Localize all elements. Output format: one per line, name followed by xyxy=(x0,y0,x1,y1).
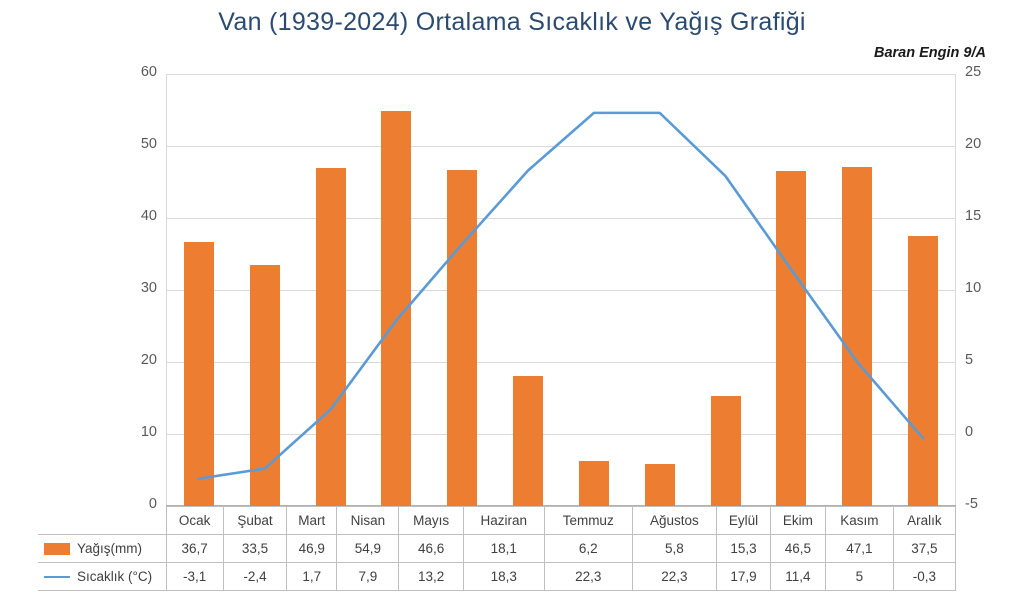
legend-label-yagis: Yağış(mm) xyxy=(77,541,142,556)
right-axis-tick-label: 10 xyxy=(965,280,981,296)
line-legend-swatch-icon xyxy=(44,571,70,583)
table-cell-yagis: 5,8 xyxy=(632,535,716,563)
table-header-cell: Şubat xyxy=(223,507,286,535)
legend-spacer xyxy=(38,507,166,535)
table-cell-yagis: 37,5 xyxy=(893,535,955,563)
table-header-cell: Mart xyxy=(287,507,337,535)
line-series xyxy=(166,74,956,506)
right-axis-tick-label: 15 xyxy=(965,208,981,224)
table-cell-yagis: 46,5 xyxy=(770,535,825,563)
table-header-cell: Haziran xyxy=(463,507,544,535)
table-cell-sicaklik: 5 xyxy=(825,563,893,591)
table-header-cell: Aralık xyxy=(893,507,955,535)
table-cell-sicaklik: 22,3 xyxy=(632,563,716,591)
table-cell-yagis: 46,9 xyxy=(287,535,337,563)
table-cell-yagis: 15,3 xyxy=(717,535,771,563)
table-cell-yagis: 54,9 xyxy=(337,535,399,563)
table-row-yagis: Yağış(mm) 36,733,546,954,946,618,16,25,8… xyxy=(38,535,956,563)
right-axis-tick-label: 5 xyxy=(965,352,973,368)
table-cell-sicaklik: 17,9 xyxy=(717,563,771,591)
legend-label-sicaklik: Sıcaklık (°C) xyxy=(77,569,152,584)
left-axis-tick-label: 10 xyxy=(141,424,157,440)
table-cell-yagis: 47,1 xyxy=(825,535,893,563)
author-annotation: Baran Engin 9/A xyxy=(874,45,986,61)
table-cell-sicaklik: -0,3 xyxy=(893,563,955,591)
table-header-cell: Ekim xyxy=(770,507,825,535)
table-header-cell: Ocak xyxy=(166,507,223,535)
left-axis-tick-label: 20 xyxy=(141,352,157,368)
table-row-categories: OcakŞubatMartNisanMayısHaziranTemmuzAğus… xyxy=(38,507,956,535)
table-cell-sicaklik: 22,3 xyxy=(544,563,632,591)
table-cell-yagis: 6,2 xyxy=(544,535,632,563)
table-cell-sicaklik: -2,4 xyxy=(223,563,286,591)
table-cell-yagis: 36,7 xyxy=(166,535,223,563)
table-cell-sicaklik: 18,3 xyxy=(463,563,544,591)
plot-area: 0102030405060 -50510152025 xyxy=(166,74,956,506)
table-cell-yagis: 46,6 xyxy=(399,535,463,563)
table-cell-sicaklik: 11,4 xyxy=(770,563,825,591)
legend-item-yagis[interactable]: Yağış(mm) xyxy=(38,535,166,563)
right-axis-tick-label: 25 xyxy=(965,64,981,80)
table-cell-sicaklik: 1,7 xyxy=(287,563,337,591)
chart-root: Van (1939-2024) Ortalama Sıcaklık ve Yağ… xyxy=(0,0,1024,598)
bar-legend-swatch-icon xyxy=(44,543,70,555)
table-row-sicaklik: Sıcaklık (°C) -3,1-2,41,77,913,218,322,3… xyxy=(38,563,956,591)
data-table: OcakŞubatMartNisanMayısHaziranTemmuzAğus… xyxy=(38,506,956,591)
table-cell-sicaklik: 7,9 xyxy=(337,563,399,591)
table-header-cell: Kasım xyxy=(825,507,893,535)
table-cell-sicaklik: 13,2 xyxy=(399,563,463,591)
right-axis-tick-label: -5 xyxy=(965,496,978,512)
right-axis-tick-label: 20 xyxy=(965,136,981,152)
temperature-polyline xyxy=(199,113,923,479)
right-axis-tick-label: 0 xyxy=(965,424,973,440)
left-axis-tick-label: 40 xyxy=(141,208,157,224)
table-cell-yagis: 18,1 xyxy=(463,535,544,563)
table-header-cell: Eylül xyxy=(717,507,771,535)
left-axis-tick-label: 60 xyxy=(141,64,157,80)
chart-title: Van (1939-2024) Ortalama Sıcaklık ve Yağ… xyxy=(0,8,1024,37)
left-axis-tick-label: 30 xyxy=(141,280,157,296)
legend-item-sicaklik[interactable]: Sıcaklık (°C) xyxy=(38,563,166,591)
table-header-cell: Nisan xyxy=(337,507,399,535)
left-axis-tick-label: 50 xyxy=(141,136,157,152)
table-cell-sicaklik: -3,1 xyxy=(166,563,223,591)
table-header-cell: Mayıs xyxy=(399,507,463,535)
table-cell-yagis: 33,5 xyxy=(223,535,286,563)
table-header-cell: Temmuz xyxy=(544,507,632,535)
table-header-cell: Ağustos xyxy=(632,507,716,535)
